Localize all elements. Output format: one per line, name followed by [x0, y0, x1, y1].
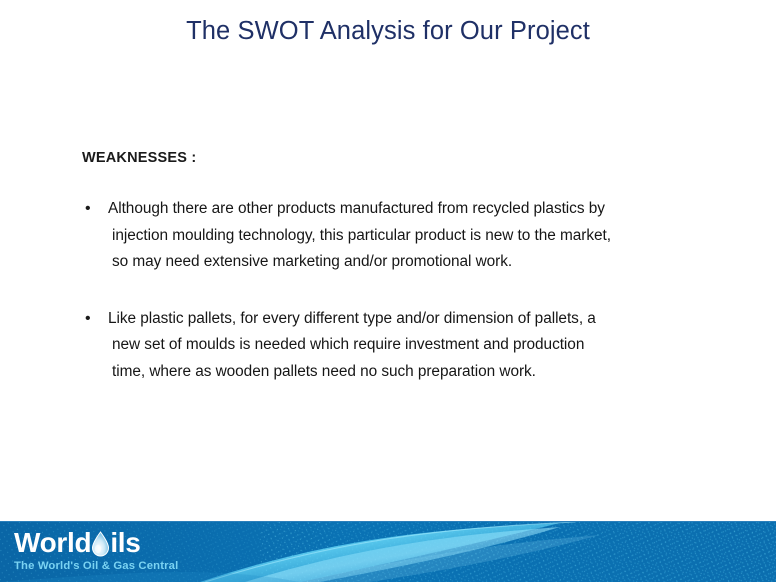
- page-title: The SWOT Analysis for Our Project: [0, 17, 776, 46]
- list-item-text: Although there are other products manufa…: [108, 196, 742, 276]
- list-item-text: Like plastic pallets, for every differen…: [108, 306, 742, 386]
- bullet-point-icon: •: [82, 306, 108, 333]
- list-item-line: injection moulding technology, this part…: [108, 223, 742, 250]
- list-item-line: time, where as wooden pallets need no su…: [108, 359, 742, 386]
- list-item-line: new set of moulds is needed which requir…: [108, 332, 742, 359]
- logo-tagline: The World's Oil & Gas Central: [14, 559, 178, 574]
- logo-text-second: ils: [110, 527, 140, 558]
- list-item: • Although there are other products manu…: [82, 196, 742, 276]
- water-drop-glyph: [91, 531, 110, 557]
- list-item: • Like plastic pallets, for every differ…: [82, 306, 742, 386]
- water-drop-icon: [91, 531, 110, 557]
- list-item-line: Like plastic pallets, for every differen…: [108, 306, 742, 333]
- presentation-slide: The SWOT Analysis for Our Project WEAKNE…: [0, 0, 776, 582]
- banner-top-hairline: [0, 521, 776, 522]
- bullet-point-icon: •: [82, 196, 108, 223]
- logo-text-first: World: [14, 527, 91, 558]
- list-item-line: so may need extensive marketing and/or p…: [108, 249, 742, 276]
- footer-banner: World ils: [0, 521, 776, 582]
- slide-body: WEAKNESSES : • Although there are other …: [82, 150, 742, 385]
- section-heading-weaknesses: WEAKNESSES :: [82, 150, 742, 166]
- logo-wordmark: World ils: [14, 527, 178, 558]
- list-item-line: Although there are other products manufa…: [108, 196, 742, 223]
- worldoils-logo[interactable]: World ils: [14, 527, 178, 574]
